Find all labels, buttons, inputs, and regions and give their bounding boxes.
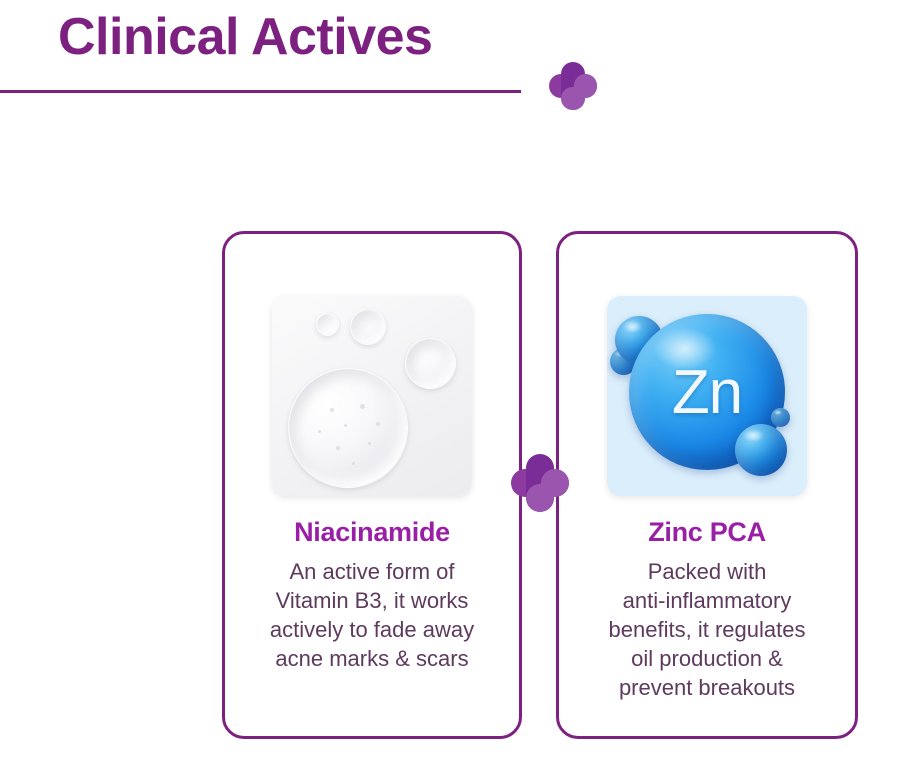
gel-speck — [336, 446, 340, 450]
gel-speck — [360, 404, 365, 409]
gel-speck — [376, 422, 380, 426]
gel-droplet-tiny — [316, 313, 339, 336]
gel-droplets-image — [272, 296, 472, 496]
zinc-symbol-label: Zn — [629, 314, 785, 470]
cross-bottom-lobe — [526, 484, 554, 512]
zinc-sphere-image: Zn — [607, 296, 807, 496]
gel-droplet-large — [288, 368, 408, 488]
gel-speck — [344, 424, 347, 427]
card-description-niacinamide: An active form of Vitamin B3, it works a… — [241, 557, 503, 673]
gel-droplet-small — [350, 309, 386, 345]
gel-speck — [368, 442, 371, 445]
page-title: Clinical Actives — [58, 8, 432, 68]
cross-bottom-lobe — [561, 87, 584, 110]
card-title-niacinamide: Niacinamide — [294, 518, 450, 548]
gel-droplet-medium — [405, 338, 456, 389]
ingredient-card-zinc-pca[interactable]: Zn Zinc PCA Packed with anti-inflammator… — [556, 231, 858, 739]
cross-vertical-bar — [526, 454, 554, 512]
cross-horizontal-bar — [549, 74, 597, 97]
ingredient-card-niacinamide[interactable]: Niacinamide An active form of Vitamin B3… — [222, 231, 522, 739]
gel-speck — [318, 430, 321, 433]
title-underline-rule — [0, 90, 521, 93]
cross-vertical-bar — [561, 62, 584, 110]
cross-right-lobe — [574, 74, 597, 97]
card-description-zinc-pca: Packed with anti-inflammatory benefits, … — [576, 557, 838, 702]
card-title-zinc-pca: Zinc PCA — [648, 518, 766, 548]
plus-cross-icon — [549, 62, 597, 110]
gel-speck — [330, 408, 334, 412]
gel-speck — [352, 462, 355, 465]
